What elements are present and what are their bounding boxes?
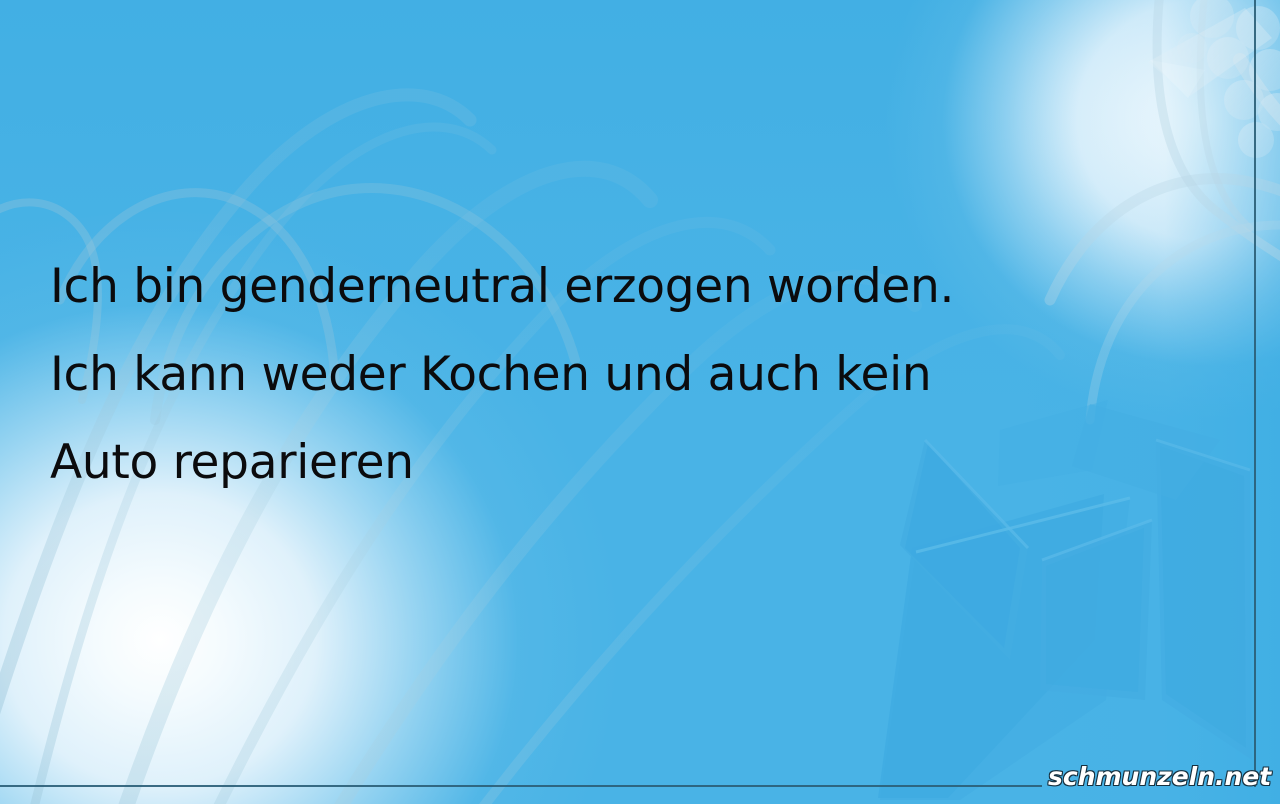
bottom-rule <box>0 785 1042 787</box>
quote-card: Ich bin genderneutral erzogen worden. Ic… <box>0 0 1280 804</box>
quote-line-3: Auto reparieren <box>50 419 1170 507</box>
right-rule <box>1254 0 1256 787</box>
watermark-label: schmunzeln.net <box>1048 762 1271 791</box>
quote-line-2: Ich kann weder Kochen und auch kein <box>50 331 1170 419</box>
quote-text-block: Ich bin genderneutral erzogen worden. Ic… <box>50 243 1170 507</box>
quote-line-1: Ich bin genderneutral erzogen worden. <box>50 243 1170 331</box>
circle-cluster-ornament <box>1177 0 1280 158</box>
